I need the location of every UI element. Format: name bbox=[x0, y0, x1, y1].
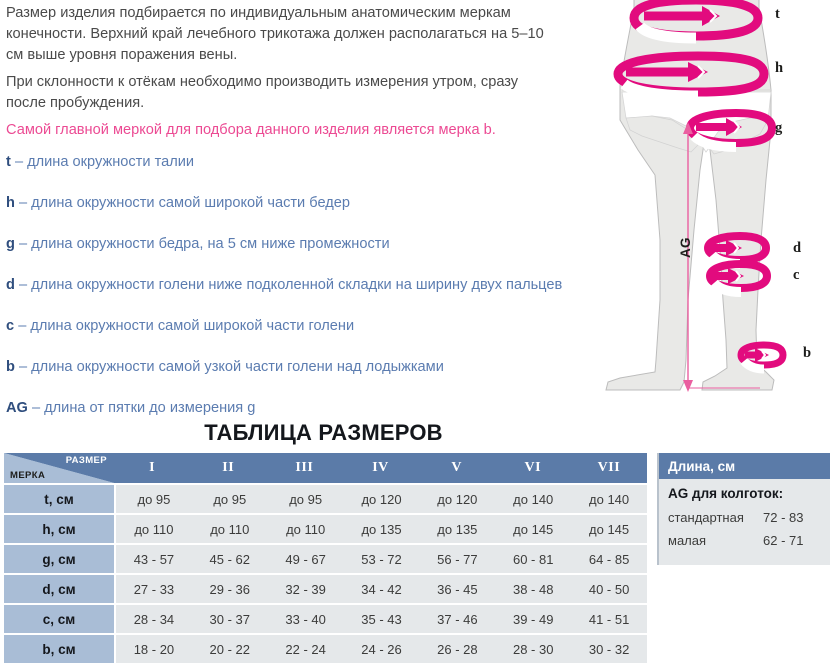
table-cell: 39 - 49 bbox=[495, 605, 571, 633]
table-cell: 22 - 24 bbox=[268, 635, 344, 663]
legend-key: t bbox=[6, 154, 11, 170]
measurement-legend: t – длина окружности талии h – длина окр… bbox=[6, 152, 554, 439]
table-cell: 28 - 30 bbox=[495, 635, 571, 663]
legend-dash: – bbox=[32, 400, 40, 416]
row-values: 43 - 57 45 - 62 49 - 67 53 - 72 56 - 77 … bbox=[116, 545, 647, 573]
column-header-3: III bbox=[266, 453, 342, 483]
size-guide-page: Размер изделия подбирается по индивидуал… bbox=[0, 0, 832, 652]
table-row: b, см 18 - 20 20 - 22 22 - 24 24 - 26 26… bbox=[4, 635, 647, 663]
label-b: b bbox=[803, 345, 811, 362]
legend-dash: – bbox=[15, 154, 23, 170]
legend-item-t: t – длина окружности талии bbox=[6, 152, 554, 173]
table-cell: 43 - 57 bbox=[116, 545, 192, 573]
intro-paragraph-1: Размер изделия подбирается по индивидуал… bbox=[6, 3, 554, 66]
table-cell: 41 - 51 bbox=[571, 605, 647, 633]
row-values: до 110 до 110 до 110 до 135 до 135 до 14… bbox=[116, 515, 647, 543]
label-c: c bbox=[793, 267, 799, 284]
legend-dash: – bbox=[19, 277, 27, 293]
column-header-5: V bbox=[419, 453, 495, 483]
table-cell: 29 - 36 bbox=[192, 575, 268, 603]
legend-item-h: h – длина окружности самой широкой части… bbox=[6, 193, 554, 214]
column-header-2: II bbox=[190, 453, 266, 483]
legend-item-ag: AG – длина от пятки до измерения g bbox=[6, 398, 554, 419]
table-cell: 38 - 48 bbox=[495, 575, 571, 603]
table-cell: 20 - 22 bbox=[192, 635, 268, 663]
table-cell: 28 - 34 bbox=[116, 605, 192, 633]
table-row: d, см 27 - 33 29 - 36 32 - 39 34 - 42 36… bbox=[4, 575, 647, 603]
row-values: 27 - 33 29 - 36 32 - 39 34 - 42 36 - 45 … bbox=[116, 575, 647, 603]
table-cell: 30 - 37 bbox=[192, 605, 268, 633]
legend-key: AG bbox=[6, 400, 28, 416]
table-cell: 32 - 39 bbox=[268, 575, 344, 603]
table-cell: до 135 bbox=[344, 515, 420, 543]
table-cell: 34 - 42 bbox=[344, 575, 420, 603]
size-table-header-row: РАЗМЕР МЕРКА I II III IV V VI VII bbox=[4, 453, 647, 483]
highlight-note: Самой главной меркой для подбора данного… bbox=[6, 120, 554, 141]
table-cell: 45 - 62 bbox=[192, 545, 268, 573]
column-header-7: VII bbox=[571, 453, 647, 483]
measurement-label-stack: t h g d c b AG bbox=[560, 0, 832, 400]
table-cell: до 110 bbox=[268, 515, 344, 543]
label-g: g bbox=[775, 120, 782, 137]
instructions-column: Размер изделия подбирается по индивидуал… bbox=[0, 0, 560, 412]
table-cell: 36 - 45 bbox=[419, 575, 495, 603]
table-cell: 64 - 85 bbox=[571, 545, 647, 573]
table-cell: до 140 bbox=[495, 485, 571, 513]
table-cell: 60 - 81 bbox=[495, 545, 571, 573]
size-table-corner-cell: РАЗМЕР МЕРКА bbox=[4, 453, 114, 483]
legend-text: длина окружности самой широкой части бед… bbox=[31, 195, 350, 211]
column-header-6: VI bbox=[495, 453, 571, 483]
row-label: h, см bbox=[4, 515, 114, 543]
length-row-label: малая bbox=[668, 533, 706, 548]
table-cell: 33 - 40 bbox=[268, 605, 344, 633]
legend-dash: – bbox=[19, 359, 27, 375]
legend-item-b: b – длина окружности самой узкой части г… bbox=[6, 357, 554, 378]
row-label: t, см bbox=[4, 485, 114, 513]
legend-dash: – bbox=[19, 195, 27, 211]
label-h: h bbox=[775, 60, 783, 77]
table-cell: до 95 bbox=[116, 485, 192, 513]
table-cell: 27 - 33 bbox=[116, 575, 192, 603]
table-cell: 30 - 32 bbox=[571, 635, 647, 663]
length-row-small: малая 62 - 71 bbox=[668, 533, 821, 548]
legend-dash: – bbox=[18, 318, 26, 334]
legend-item-d: d – длина окружности голени ниже подколе… bbox=[6, 275, 554, 296]
table-cell: 24 - 26 bbox=[344, 635, 420, 663]
legend-dash: – bbox=[19, 236, 27, 252]
length-row-standard: стандартная 72 - 83 bbox=[668, 510, 821, 525]
table-cell: до 120 bbox=[419, 485, 495, 513]
legend-text: длина окружности бедра, на 5 см ниже про… bbox=[31, 236, 389, 252]
table-row: h, см до 110 до 110 до 110 до 135 до 135… bbox=[4, 515, 647, 543]
legend-key: g bbox=[6, 236, 15, 252]
row-label: c, см bbox=[4, 605, 114, 633]
legend-key: h bbox=[6, 195, 15, 211]
table-cell: 49 - 67 bbox=[268, 545, 344, 573]
corner-size-label: РАЗМЕР bbox=[66, 455, 107, 466]
table-cell: до 145 bbox=[495, 515, 571, 543]
row-label: g, см bbox=[4, 545, 114, 573]
table-cell: 35 - 43 bbox=[344, 605, 420, 633]
length-panel-header: Длина, см bbox=[659, 453, 830, 479]
intro-paragraph-2: При склонности к отёкам необходимо произ… bbox=[6, 72, 554, 114]
size-table: РАЗМЕР МЕРКА I II III IV V VI VII t, см … bbox=[4, 453, 647, 663]
table-cell: до 95 bbox=[268, 485, 344, 513]
row-label: d, см bbox=[4, 575, 114, 603]
length-panel: Длина, см AG для колготок: стандартная 7… bbox=[657, 453, 830, 565]
table-cell: 18 - 20 bbox=[116, 635, 192, 663]
table-cell: 26 - 28 bbox=[419, 635, 495, 663]
row-values: до 95 до 95 до 95 до 120 до 120 до 140 д… bbox=[116, 485, 647, 513]
legend-text: длина от пятки до измерения g bbox=[44, 400, 255, 416]
length-row-label: стандартная bbox=[668, 510, 744, 525]
size-table-title: ТАБЛИЦА РАЗМЕРОВ bbox=[0, 420, 647, 446]
table-cell: до 110 bbox=[192, 515, 268, 543]
corner-measure-label: МЕРКА bbox=[10, 470, 45, 481]
row-label: b, см bbox=[4, 635, 114, 663]
label-ag: AG bbox=[678, 237, 693, 258]
table-cell: до 135 bbox=[419, 515, 495, 543]
table-cell: до 110 bbox=[116, 515, 192, 543]
body-measurement-illustration: t h g d c b AG bbox=[560, 0, 832, 400]
length-panel-body: AG для колготок: стандартная 72 - 83 мал… bbox=[659, 479, 830, 565]
row-values: 28 - 34 30 - 37 33 - 40 35 - 43 37 - 46 … bbox=[116, 605, 647, 633]
label-t: t bbox=[775, 6, 780, 23]
table-cell: 40 - 50 bbox=[571, 575, 647, 603]
table-cell: 53 - 72 bbox=[344, 545, 420, 573]
legend-key: b bbox=[6, 359, 15, 375]
length-panel-title: AG для колготок: bbox=[668, 486, 821, 501]
legend-text: длина окружности талии bbox=[27, 154, 194, 170]
table-cell: 56 - 77 bbox=[419, 545, 495, 573]
legend-key: d bbox=[6, 277, 15, 293]
table-row: c, см 28 - 34 30 - 37 33 - 40 35 - 43 37… bbox=[4, 605, 647, 633]
legend-item-c: c – длина окружности самой широкой части… bbox=[6, 316, 554, 337]
row-values: 18 - 20 20 - 22 22 - 24 24 - 26 26 - 28 … bbox=[116, 635, 647, 663]
table-cell: до 145 bbox=[571, 515, 647, 543]
table-cell: до 95 bbox=[192, 485, 268, 513]
length-row-value: 62 - 71 bbox=[763, 533, 821, 548]
table-cell: до 120 bbox=[344, 485, 420, 513]
table-cell: 37 - 46 bbox=[419, 605, 495, 633]
legend-item-g: g – длина окружности бедра, на 5 см ниже… bbox=[6, 234, 554, 255]
table-row: t, см до 95 до 95 до 95 до 120 до 120 до… bbox=[4, 485, 647, 513]
legend-text: длина окружности голени ниже подколенной… bbox=[31, 277, 562, 293]
column-header-4: IV bbox=[342, 453, 418, 483]
column-header-1: I bbox=[114, 453, 190, 483]
legend-text: длина окружности самой широкой части гол… bbox=[30, 318, 354, 334]
table-row: g, см 43 - 57 45 - 62 49 - 67 53 - 72 56… bbox=[4, 545, 647, 573]
label-d: d bbox=[793, 240, 801, 257]
table-cell: до 140 bbox=[571, 485, 647, 513]
length-row-value: 72 - 83 bbox=[763, 510, 821, 525]
legend-text: длина окружности самой узкой части голен… bbox=[31, 359, 444, 375]
legend-key: c bbox=[6, 318, 14, 334]
